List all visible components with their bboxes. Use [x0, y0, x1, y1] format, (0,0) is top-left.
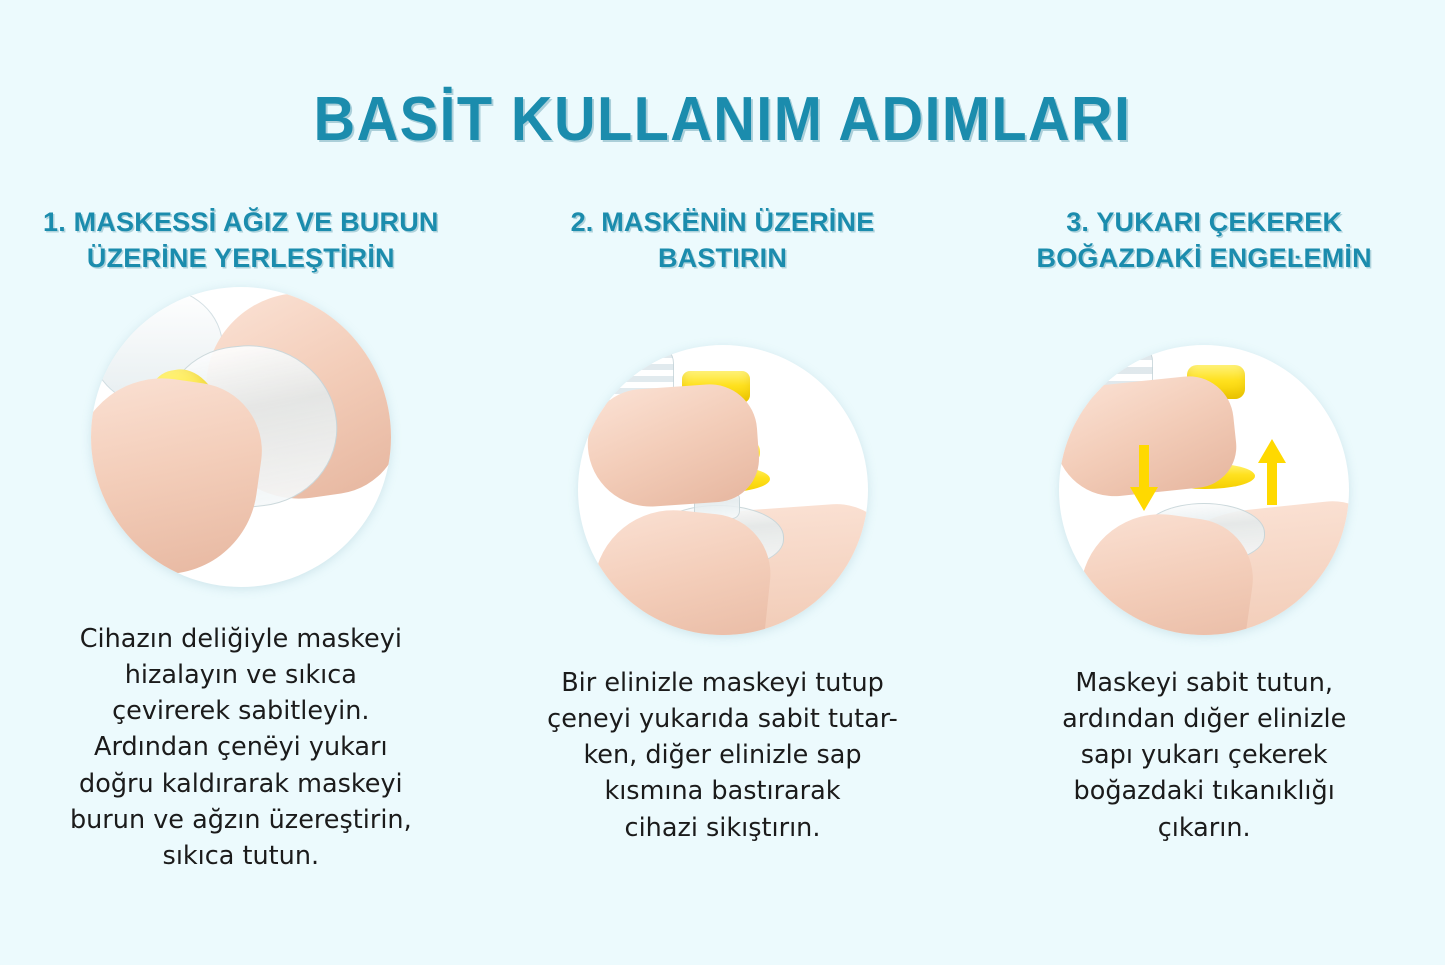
infographic-page: BASİT KULLANIM ADIMLARI 1. MASKESSİ AĞIZ… [0, 0, 1445, 963]
step-3-photo-illustration [1059, 345, 1349, 635]
step-1-photo-circle [91, 287, 391, 587]
step-2-heading: 2. MASKËNİN ÜZERİNE BASTIRIN [523, 205, 923, 277]
step-1-photo-illustration [91, 287, 391, 587]
arrow-down-icon [1129, 445, 1159, 513]
step-3-photo-circle [1059, 345, 1349, 635]
step-2-description: Bir elinizle maskeyi tutup çeneyi yukarı… [518, 665, 928, 846]
step-3-heading: 3. YUKARI ÇEKEREK BOĞAZDAKİ ENGEĿEMİN [989, 205, 1419, 277]
step-column-1: 1. MASKESSİ AĞIZ VE BURUN ÜZERİNE YERLEŞ… [0, 205, 482, 965]
step-2-photo-illustration [578, 345, 868, 635]
step-2-photo-circle [578, 345, 868, 635]
step-3-description: Maskeyi sabit tutun, ardından dığer elin… [999, 665, 1409, 846]
steps-container: 1. MASKESSİ AĞIZ VE BURUN ÜZERİNE YERLEŞ… [0, 205, 1445, 965]
step-1-heading: 1. MASKESSİ AĞIZ VE BURUN ÜZERİNE YERLEŞ… [31, 205, 451, 277]
step-column-3: 3. YUKARI ÇEKEREK BOĞAZDAKİ ENGEĿEMİN [963, 205, 1445, 965]
step-column-2: 2. MASKËNİN ÜZERİNE BASTIRIN [482, 205, 964, 965]
step-2-photo [578, 345, 868, 635]
arrow-up-icon [1257, 437, 1287, 505]
page-title: BASİT KULLANIM ADIMLARI [51, 84, 1395, 155]
upper-hand-shape [584, 381, 762, 511]
step-1-description: Cihazın deliğiyle maskeyi hizalayın ve s… [31, 621, 451, 874]
step-3-photo [1059, 345, 1349, 635]
step-1-photo [91, 287, 391, 587]
